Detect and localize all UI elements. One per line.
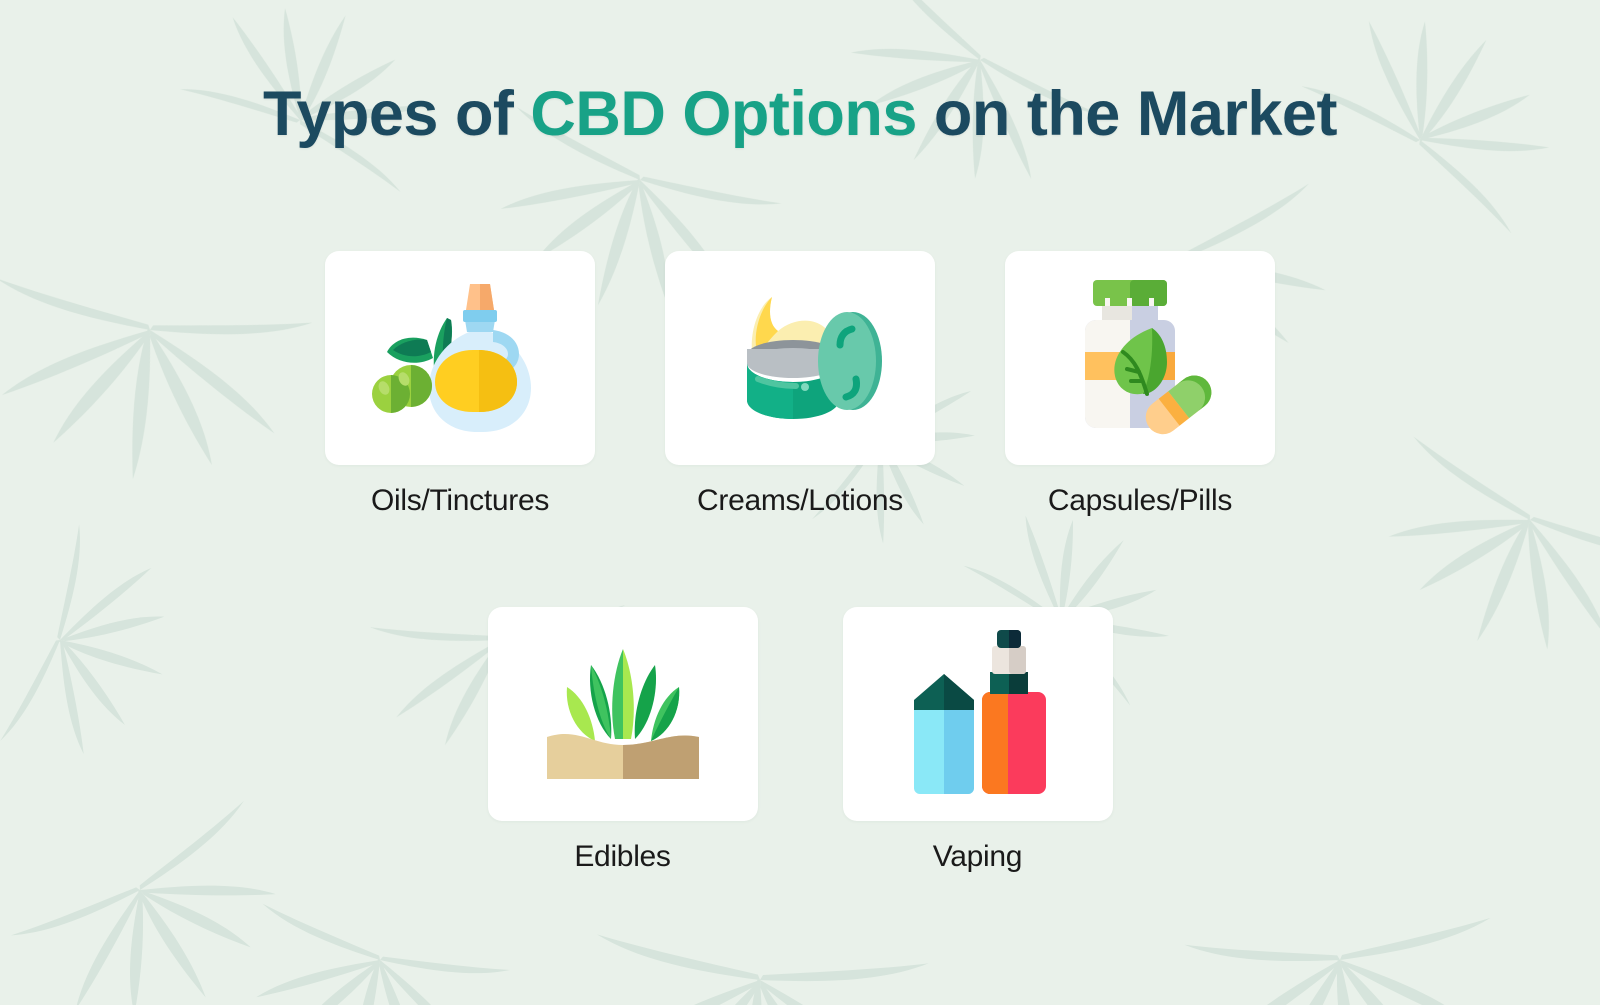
pill-bottle-capsule-icon [1055, 276, 1225, 441]
title-text-trailing: on the Market [917, 79, 1337, 149]
card-item-vaping[interactable]: Vaping [843, 607, 1113, 874]
title-text-leading: Types of [263, 79, 530, 149]
card-item-capsules-pills[interactable]: Capsules/Pills [1005, 251, 1275, 518]
card-oils-tinctures[interactable] [325, 251, 595, 465]
card-edibles[interactable] [488, 607, 758, 821]
oil-bottle-olives-icon [365, 278, 555, 438]
card-item-edibles[interactable]: Edibles [488, 607, 758, 874]
card-label-creams-lotions: Creams/Lotions [697, 484, 903, 518]
card-label-vaping: Vaping [933, 840, 1022, 874]
card-capsules-pills[interactable] [1005, 251, 1275, 465]
card-label-oils-tinctures: Oils/Tinctures [371, 484, 549, 518]
card-creams-lotions[interactable] [665, 251, 935, 465]
plant-soil-icon [537, 639, 709, 789]
card-item-oils-tinctures[interactable]: Oils/Tinctures [325, 251, 595, 518]
card-label-capsules-pills: Capsules/Pills [1048, 484, 1232, 518]
infographic-page: Types of CBD Options on the Market [0, 0, 1600, 1005]
card-row-top: Oils/Tinctures [0, 251, 1600, 518]
page-title: Types of CBD Options on the Market [0, 78, 1600, 150]
card-row-bottom: Edibles [0, 607, 1600, 874]
card-label-edibles: Edibles [574, 840, 670, 874]
card-item-creams-lotions[interactable]: Creams/Lotions [665, 251, 935, 518]
title-text-accent: CBD Options [530, 79, 916, 149]
card-vaping[interactable] [843, 607, 1113, 821]
cream-jar-icon [700, 283, 900, 433]
vape-device-icon [898, 624, 1058, 804]
